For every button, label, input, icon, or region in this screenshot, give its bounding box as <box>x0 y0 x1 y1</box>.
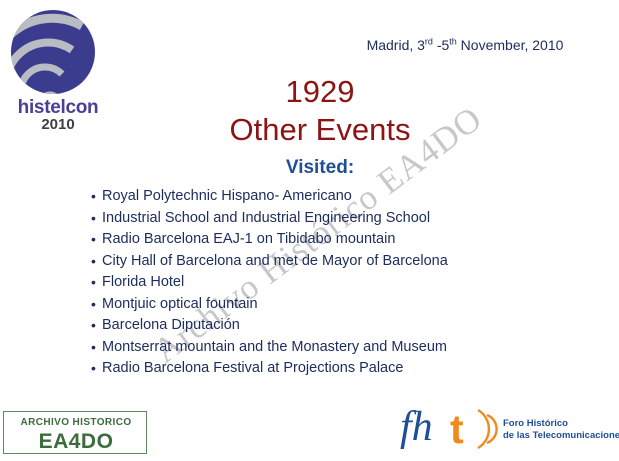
histelcon-globe-icon <box>4 6 112 98</box>
list-item: Radio Barcelona EAJ-1 on Tibidabo mounta… <box>91 229 448 251</box>
list-item: Radio Barcelona Festival at Projections … <box>91 358 448 380</box>
fht-tagline-line2: de las Telecomunicaciones <box>503 430 619 442</box>
visited-list: Royal Polytechnic Hispano- Americano Ind… <box>91 186 448 380</box>
archivo-badge-line2: EA4DO <box>4 430 148 454</box>
date-ordinal-1: rd <box>425 36 433 46</box>
list-item: City Hall of Barcelona and met de Mayor … <box>91 251 448 273</box>
signal-waves-icon <box>474 406 500 452</box>
archivo-badge-line1: ARCHIVO HISTORICO <box>4 417 148 428</box>
histelcon-year: 2010 <box>4 116 112 133</box>
list-item: Montjuic optical fountain <box>91 294 448 316</box>
fht-fh-letters: fh <box>400 402 433 452</box>
slide-title-year: 1929 <box>120 74 520 110</box>
list-item: Royal Polytechnic Hispano- Americano <box>91 186 448 208</box>
fht-tagline: Foro Histórico de las Telecomunicaciones <box>503 418 619 441</box>
archivo-historico-badge: ARCHIVO HISTORICO EA4DO <box>3 411 147 454</box>
list-item: Barcelona Diputación <box>91 315 448 337</box>
fht-mark: fh t <box>398 404 498 454</box>
slide-subtitle: Visited: <box>120 157 520 179</box>
list-item: Florida Hotel <box>91 272 448 294</box>
list-item: Industrial School and Industrial Enginee… <box>91 208 448 230</box>
date-mid: -5 <box>433 37 449 53</box>
fht-tagline-line1: Foro Histórico <box>503 418 619 430</box>
histelcon-logo: histelcon 2010 <box>4 6 112 131</box>
slide-title-main: Other Events <box>120 112 520 148</box>
slide-canvas: Archivo Histórico EA4DO histelcon 2010 M… <box>0 0 619 461</box>
fht-t-letter: t <box>450 405 464 453</box>
fht-logo: fh t Foro Histórico de las Telecomunicac… <box>398 404 613 456</box>
conference-date: Madrid, 3rd -5th November, 2010 <box>320 37 610 53</box>
list-item: Montserrat mountain and the Monastery an… <box>91 337 448 359</box>
date-prefix: Madrid, 3 <box>367 37 425 53</box>
date-suffix: November, 2010 <box>457 37 564 53</box>
date-ordinal-2: th <box>449 36 457 46</box>
